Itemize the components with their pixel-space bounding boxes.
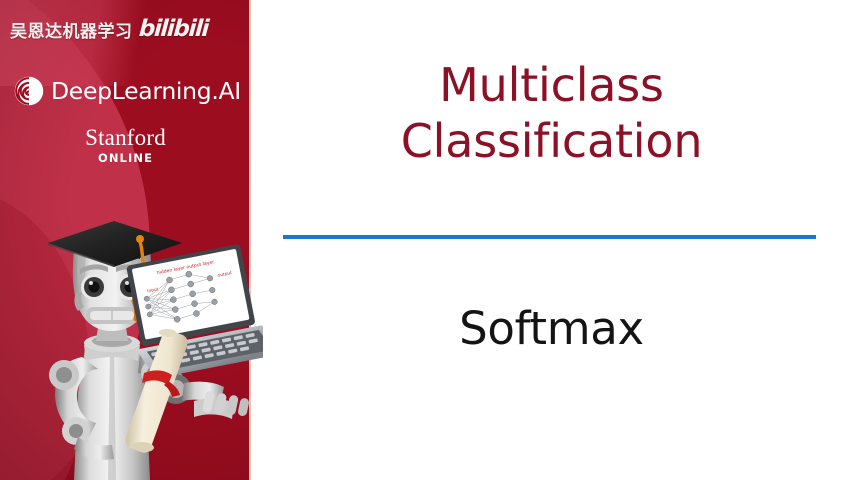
graduate-robot-mascot: hidden layer output layer input output bbox=[18, 215, 263, 480]
stanford-online-logo: Stanford ONLINE bbox=[0, 126, 251, 165]
page-title: Multiclass Classification bbox=[251, 58, 852, 169]
bilibili-watermark: 吴恩达机器学习 bilibili bbox=[10, 16, 208, 42]
slide-canvas: 吴恩达机器学习 bilibili DeepLearning.AI Stanfor… bbox=[0, 0, 852, 480]
spiral-logo-icon bbox=[14, 76, 44, 106]
panel-top-highlight bbox=[0, 0, 251, 86]
subtitle: Softmax bbox=[251, 302, 852, 355]
stanford-online-subtext: ONLINE bbox=[0, 151, 251, 165]
bilibili-logo: bilibili bbox=[138, 16, 209, 42]
deeplearning-ai-wordmark: DeepLearning.AI bbox=[51, 77, 241, 105]
slide-content: Multiclass Classification Softmax bbox=[251, 0, 852, 480]
title-line-2: Classification bbox=[251, 114, 852, 170]
deeplearning-ai-logo: DeepLearning.AI bbox=[14, 76, 241, 106]
stanford-wordmark: Stanford bbox=[0, 126, 251, 150]
title-line-1: Multiclass bbox=[251, 58, 852, 114]
watermark-course-title: 吴恩达机器学习 bbox=[10, 17, 133, 42]
title-divider bbox=[283, 235, 816, 239]
